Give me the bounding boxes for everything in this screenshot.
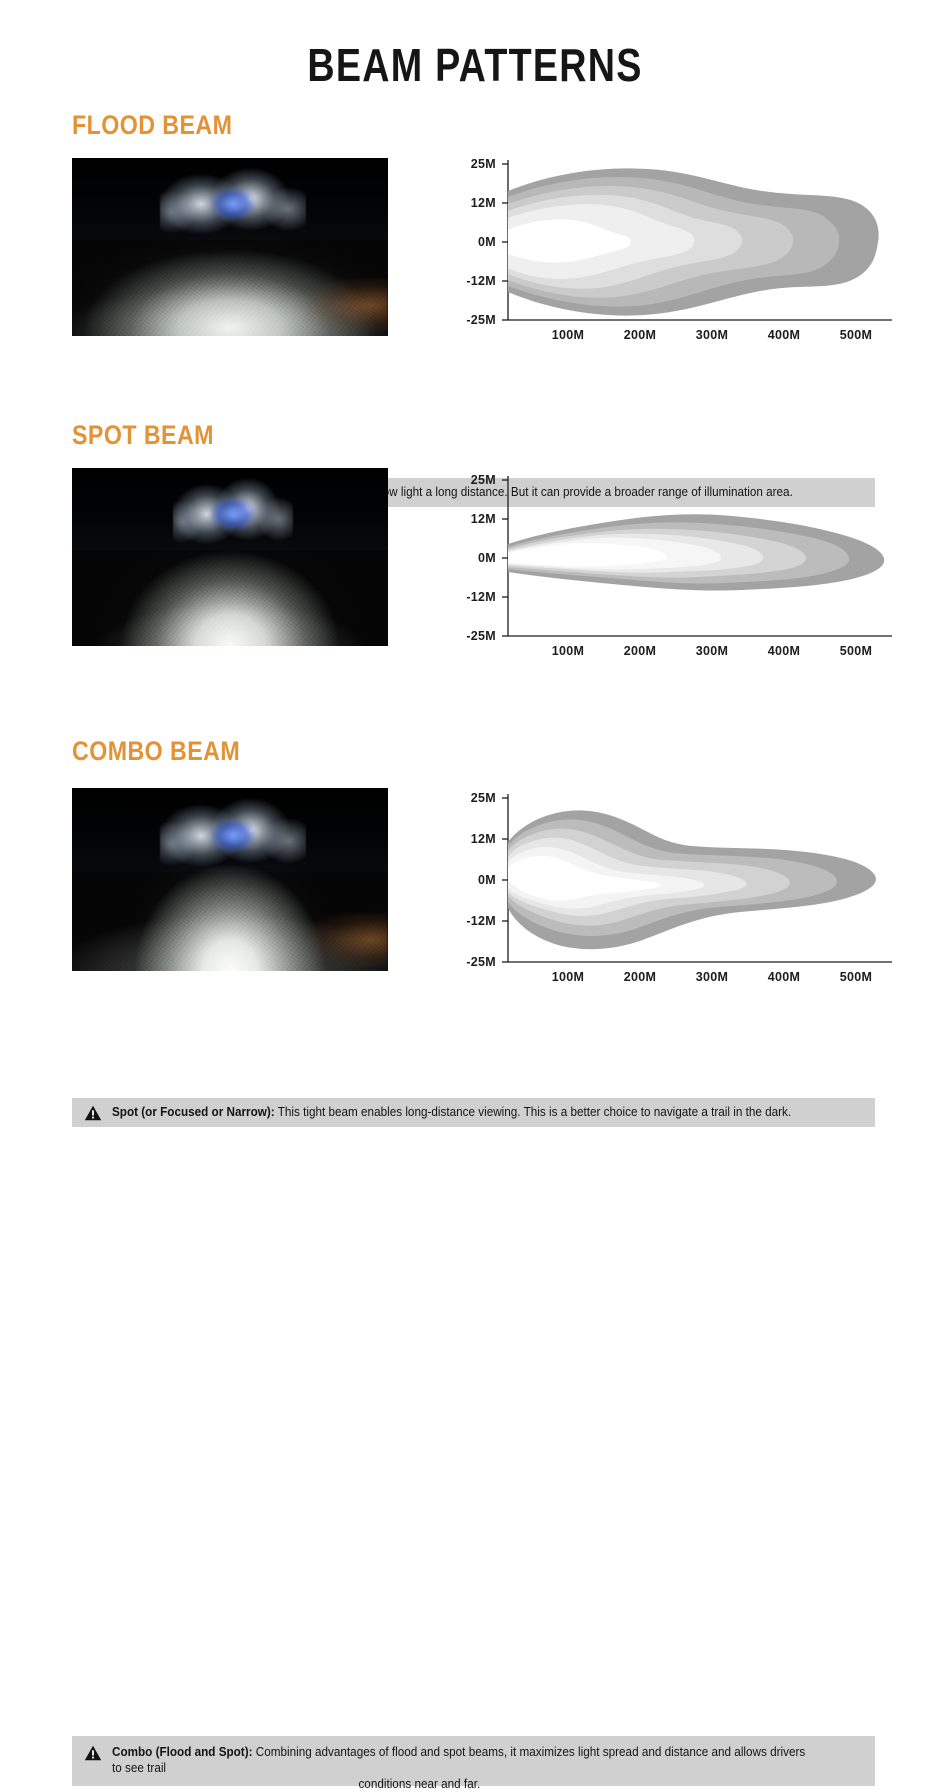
chart-y-tick-labels: 25M 12M 0M -12M -25M — [466, 791, 496, 969]
caption-bold-combo: Combo (Flood and Spot): — [112, 1745, 253, 1759]
y-tick-label: 0M — [478, 551, 496, 565]
chart-spot-beam: 25M 12M 0M -12M -25M 100M 200M 300M 400M… — [440, 468, 910, 668]
x-tick-label: 300M — [696, 644, 728, 658]
photo-combo-beam — [72, 788, 388, 971]
x-tick-label: 400M — [768, 328, 800, 342]
y-tick-label: 25M — [471, 791, 496, 805]
x-tick-label: 100M — [552, 970, 584, 984]
y-tick-label: -25M — [466, 313, 496, 327]
section-heading-spot: SPOT BEAM — [72, 420, 214, 451]
caption-text-combo: Combo (Flood and Spot): Combining advant… — [112, 1744, 809, 1792]
chart-x-tick-labels: 100M 200M 300M 400M 500M — [552, 970, 872, 984]
y-tick-label: -12M — [466, 914, 496, 928]
y-tick-label: -12M — [466, 274, 496, 288]
warning-triangle-icon — [84, 1745, 102, 1761]
photo-ground — [72, 233, 388, 336]
caption-text-spot: Spot (or Focused or Narrow): This tight … — [112, 1104, 791, 1120]
chart-y-tick-labels: 25M 12M 0M -12M -25M — [466, 473, 496, 643]
chart-y-tick-labels: 25M 12M 0M -12M -25M — [466, 157, 496, 327]
chart-x-tick-labels: 100M 200M 300M 400M 500M — [552, 644, 872, 658]
photo-blue-glow — [211, 188, 255, 220]
y-tick-label: 12M — [471, 832, 496, 846]
x-tick-label: 500M — [840, 644, 872, 658]
y-tick-label: 12M — [471, 512, 496, 526]
photo-blue-glow — [211, 498, 255, 530]
x-tick-label: 100M — [552, 644, 584, 658]
y-tick-label: 0M — [478, 873, 496, 887]
beam-contours-combo — [508, 810, 876, 949]
x-tick-label: 300M — [696, 328, 728, 342]
chart-x-tick-labels: 100M 200M 300M 400M 500M — [552, 328, 872, 342]
x-tick-label: 200M — [624, 328, 656, 342]
x-tick-label: 500M — [840, 328, 872, 342]
photo-flood-beam — [72, 158, 388, 336]
y-tick-label: -25M — [466, 955, 496, 969]
chart-flood-beam: 25M 12M 0M -12M -25M 100M 200M 300M 400M… — [440, 152, 910, 352]
y-tick-label: -25M — [466, 629, 496, 643]
caption-body-spot: This tight beam enables long-distance vi… — [275, 1105, 791, 1119]
caption-bold-spot: Spot (or Focused or Narrow): — [112, 1105, 275, 1119]
x-tick-label: 300M — [696, 970, 728, 984]
caption-spot: Spot (or Focused or Narrow): This tight … — [72, 1098, 875, 1127]
caption-combo: Combo (Flood and Spot): Combining advant… — [72, 1736, 875, 1786]
y-tick-label: 0M — [478, 235, 496, 249]
y-tick-label: 25M — [471, 473, 496, 487]
x-tick-label: 200M — [624, 644, 656, 658]
x-tick-label: 200M — [624, 970, 656, 984]
y-tick-label: 25M — [471, 157, 496, 171]
warning-triangle-icon — [84, 1105, 102, 1121]
photo-gravel-texture — [72, 865, 388, 971]
photo-ground — [72, 543, 388, 646]
page-title: BEAM PATTERNS — [86, 38, 865, 92]
beam-contours-spot — [508, 514, 884, 590]
chart-combo-beam: 25M 12M 0M -12M -25M 100M 200M 300M 400M… — [440, 786, 910, 998]
photo-gravel-texture — [72, 543, 388, 646]
x-tick-label: 500M — [840, 970, 872, 984]
y-tick-label: -12M — [466, 590, 496, 604]
photo-spot-beam — [72, 468, 388, 646]
x-tick-label: 400M — [768, 970, 800, 984]
photo-blue-glow — [211, 819, 255, 852]
beam-contours-flood — [508, 168, 879, 315]
photo-gravel-texture — [72, 233, 388, 336]
x-tick-label: 100M — [552, 328, 584, 342]
photo-ground — [72, 865, 388, 971]
section-heading-flood: FLOOD BEAM — [72, 110, 232, 141]
section-heading-combo: COMBO BEAM — [72, 736, 240, 767]
caption-body-combo-line2: conditions near and far. — [112, 1776, 809, 1792]
y-tick-label: 12M — [471, 196, 496, 210]
x-tick-label: 400M — [768, 644, 800, 658]
